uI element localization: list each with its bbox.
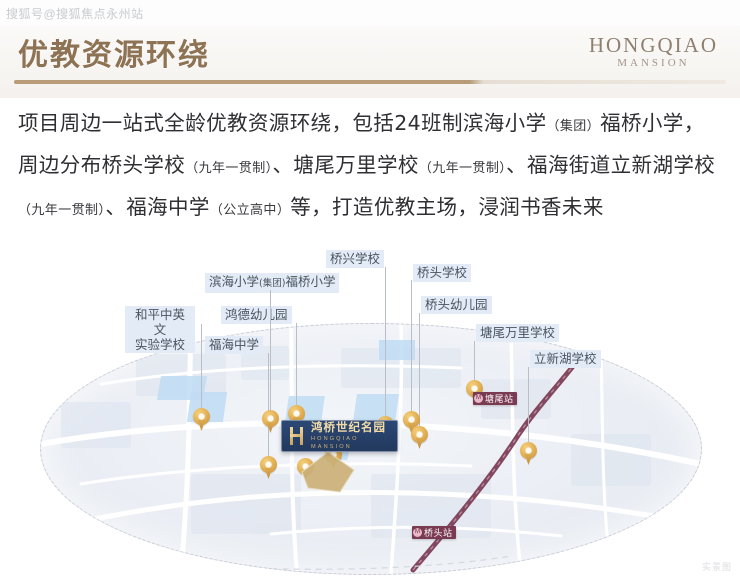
paragraph-part-5: （九年一贯制） xyxy=(419,161,506,176)
map-label-qiaotou-kinder[interactable]: 桥头幼儿园 xyxy=(421,296,492,314)
leader-line-binhai xyxy=(270,290,271,420)
map-label-fuhai[interactable]: 福海中学 xyxy=(205,336,263,354)
map-label-lixinhu[interactable]: 立新湖学校 xyxy=(530,350,601,368)
metro-icon: M xyxy=(413,528,422,537)
pin-tail-icon xyxy=(416,438,424,449)
paragraph-part-0: 项目周边一站式全龄优教资源环绕，包括24班制滨海小学 xyxy=(18,111,546,135)
map-pin-heping[interactable] xyxy=(193,408,210,431)
pin-tail-icon xyxy=(198,420,206,431)
pin-dot-icon xyxy=(293,410,300,417)
map-label-fuhai-text: 福海中学 xyxy=(209,337,259,352)
project-badge[interactable]: 鸿桥世纪名园 HONGQIAO MANSION xyxy=(281,420,398,452)
leader-line-fuhai xyxy=(268,353,269,463)
map-label-qiaoxing[interactable]: 桥兴学校 xyxy=(326,250,384,268)
leader-line-qiaotou-school xyxy=(411,280,412,420)
pin-dot-icon xyxy=(525,447,532,454)
source-watermark-bar: 搜狐号@搜狐焦点永州站 xyxy=(0,0,740,26)
map-label-lixinhu-text: 立新湖学校 xyxy=(534,351,597,366)
leader-line-lixinhu xyxy=(528,367,529,451)
h-monogram-bar xyxy=(290,434,303,437)
map-label-tangwei[interactable]: 塘尾万里学校 xyxy=(476,324,559,342)
page-title: 优教资源环绕 xyxy=(18,30,210,74)
paragraph-part-3: （九年一贯制） xyxy=(185,161,272,176)
paragraph-part-7: （九年一贯制） xyxy=(18,203,105,218)
h-monogram-icon xyxy=(287,426,307,446)
map-label-qiaotou-kinder-text: 桥头幼儿园 xyxy=(425,297,488,312)
brand-name-main: HONGQIAO xyxy=(589,34,718,56)
pin-dot-icon xyxy=(408,416,415,423)
pin-dot-icon xyxy=(416,431,423,438)
map-pin-fuhai[interactable] xyxy=(260,456,277,479)
brand-logo: HONGQIAO MANSION xyxy=(589,34,718,69)
leader-line-heping xyxy=(201,324,202,418)
pin-tail-icon xyxy=(267,422,275,433)
map-label-binhai[interactable]: 滨海小学(集团)福桥小学 xyxy=(205,273,339,293)
paragraph-part-10: 等，打造优教主场，浸润书香未来 xyxy=(290,195,604,219)
map-label-binhai-pre: 滨海小学 xyxy=(209,274,259,289)
map-label-qiaotou-school[interactable]: 桥头学校 xyxy=(413,264,471,282)
pin-dot-icon xyxy=(471,385,478,392)
pin-tail-icon xyxy=(265,468,273,479)
map-pin-lixinhu[interactable] xyxy=(520,442,537,465)
map-label-heping-line1: 和平中英文 xyxy=(135,307,185,337)
map-label-hongde[interactable]: 鸿德幼儿园 xyxy=(221,306,292,324)
map-label-heping[interactable]: 和平中英文 实验学校 xyxy=(125,306,195,353)
leader-line-hongde xyxy=(296,323,297,415)
metro-station-qiaotou[interactable]: M 桥头站 xyxy=(412,526,456,539)
paragraph-part-9: （公立高中） xyxy=(210,203,290,218)
pin-tail-icon xyxy=(525,454,533,465)
location-map[interactable]: 和平中英文 实验学校 滨海小学(集团)福桥小学 鸿德幼儿园 福海中学 桥兴学校 … xyxy=(0,228,740,579)
map-pin-qiaotou-kinder[interactable] xyxy=(411,426,428,449)
metro-station-tangwei[interactable]: M 塘尾站 xyxy=(473,392,517,405)
project-name-cn: 鸿桥世纪名园 xyxy=(311,421,397,434)
description-paragraph: 项目周边一站式全龄优教资源环绕，包括24班制滨海小学（集团）福桥小学，周边分布桥… xyxy=(18,104,722,230)
pin-dot-icon xyxy=(198,413,205,420)
source-watermark-text: 搜狐号@搜狐焦点永州站 xyxy=(0,5,144,22)
metro-station-qiaotou-name: 桥头站 xyxy=(424,526,453,539)
paragraph-part-4: 、塘尾万里学校 xyxy=(273,153,419,177)
project-site-shape xyxy=(300,450,356,494)
metro-icon: M xyxy=(474,394,483,403)
map-label-heping-line2: 实验学校 xyxy=(135,337,185,352)
map-label-qiaoxing-text: 桥兴学校 xyxy=(330,251,380,266)
pin-dot-icon xyxy=(265,461,272,468)
project-name-en: HONGQIAO MANSION xyxy=(311,435,397,451)
map-label-binhai-post: 福桥小学 xyxy=(285,274,335,289)
pin-dot-icon xyxy=(267,415,274,422)
paragraph-part-6: 、福海街道立新湖学校 xyxy=(506,153,715,177)
map-label-binhai-mini: (集团) xyxy=(259,278,285,289)
paragraph-part-1: （集团） xyxy=(546,119,600,134)
map-label-tangwei-text: 塘尾万里学校 xyxy=(480,325,555,340)
map-label-qiaotou-school-text: 桥头学校 xyxy=(417,265,467,280)
leader-line-qiaoxing xyxy=(385,267,386,425)
header-divider xyxy=(14,80,726,84)
metro-station-tangwei-name: 塘尾站 xyxy=(485,392,514,405)
map-label-hongde-text: 鸿德幼儿园 xyxy=(225,307,288,322)
paragraph-part-8: 、福海中学 xyxy=(105,195,210,219)
page-header: 优教资源环绕 HONGQIAO MANSION xyxy=(0,26,740,98)
map-pin-binhai[interactable] xyxy=(262,410,279,433)
brand-name-sub: MANSION xyxy=(589,57,718,69)
footer-watermark: 实景图 xyxy=(702,560,732,573)
project-badge-text: 鸿桥世纪名园 HONGQIAO MANSION xyxy=(311,421,397,451)
